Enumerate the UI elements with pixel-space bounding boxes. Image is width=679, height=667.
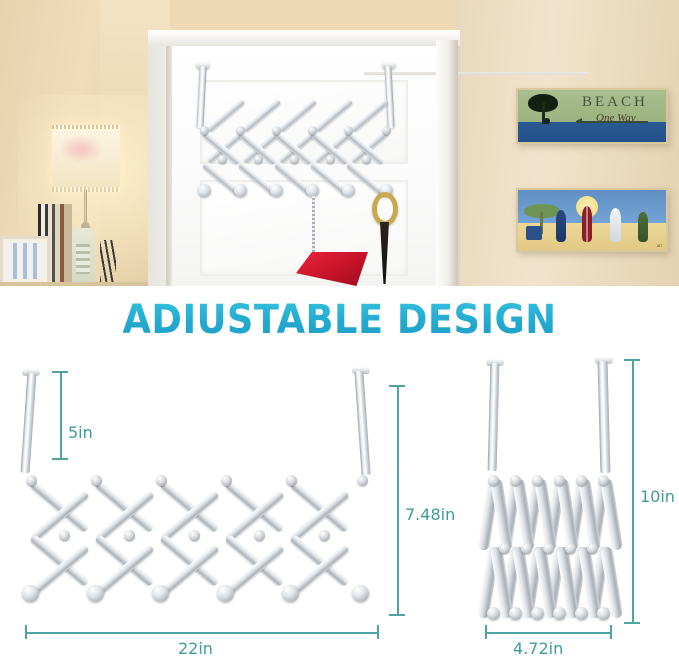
rack-hook-knob — [342, 184, 355, 197]
dimension-tick — [377, 625, 379, 639]
lamp-shade-trim — [52, 125, 120, 129]
dimension-tick — [389, 385, 405, 387]
dimension-label-overall-width: 22in — [178, 639, 213, 658]
cordless-phone — [72, 228, 94, 286]
lattice-rivet — [488, 475, 499, 486]
wall-art-heading: BEACH — [582, 94, 648, 111]
door-rail-top — [364, 72, 588, 75]
door-jamb-right — [436, 40, 458, 286]
lamp-shade-icon — [52, 126, 120, 192]
lattice-bar — [159, 544, 220, 597]
lattice-rivet — [26, 475, 37, 486]
lattice-rivet — [200, 126, 209, 135]
lattice-rivet — [521, 543, 532, 554]
lattice-rivet — [357, 475, 368, 486]
lattice-rivet — [565, 543, 576, 554]
rack-hook-knob — [352, 585, 369, 602]
dimension-tick — [624, 359, 640, 361]
surfboard — [582, 206, 592, 242]
dimension-line-overall-height — [397, 385, 399, 615]
dimension-tick — [25, 625, 27, 639]
lattice-rivet — [286, 475, 297, 486]
page-title: ADIUSTABLE DESIGN — [27, 297, 652, 343]
rack-hook-knob — [234, 184, 247, 197]
picture-frame — [0, 236, 50, 286]
lattice-bar — [29, 534, 90, 587]
lattice-rivet — [499, 543, 510, 554]
lattice-bar — [159, 480, 220, 533]
lattice-rivet — [218, 155, 227, 164]
dimension-tick — [610, 625, 612, 639]
rack-hook-knob — [87, 585, 104, 602]
umbrella-handle-ring-icon — [372, 192, 398, 226]
coconut — [544, 118, 550, 124]
lattice-bar — [94, 480, 155, 533]
lattice-rivet — [382, 126, 391, 135]
dimension-label-overall-width: 4.72in — [513, 639, 563, 658]
door-casing-top — [148, 30, 460, 46]
surfboard — [610, 208, 621, 242]
lattice-rivet — [326, 155, 335, 164]
lattice-bar — [289, 480, 350, 533]
rack-hook-knob — [487, 607, 500, 620]
lattice-bar — [224, 480, 285, 533]
hook-strap-left — [488, 363, 500, 471]
lattice-rivet — [587, 543, 598, 554]
rack-hook-knob — [152, 585, 169, 602]
rack-hook-knob — [270, 184, 283, 197]
dimension-tick — [52, 371, 68, 373]
lattice-bar — [224, 534, 285, 587]
art-signature: art — [657, 244, 662, 249]
rack-hook-knob — [217, 585, 234, 602]
lattice-bar — [224, 544, 285, 597]
lattice-rivet — [510, 475, 521, 486]
dimension-line-overall-height — [632, 359, 634, 623]
beach-chair-icon — [526, 226, 542, 240]
dimension-tick — [389, 614, 405, 616]
rack-hook-knob — [22, 585, 39, 602]
lattice-rivet — [156, 475, 167, 486]
dimension-tick — [624, 622, 640, 624]
lattice-rivet — [598, 475, 609, 486]
rack-hook-knob — [509, 607, 522, 620]
lattice-rivet — [254, 155, 263, 164]
hook-strap-left — [21, 373, 37, 473]
lattice-bar — [29, 544, 90, 597]
dimension-label-overall-height: 7.48in — [405, 505, 455, 524]
dimension-label-overall-height: 10in — [640, 487, 675, 506]
lattice-rivet — [236, 126, 245, 135]
lattice-bar — [29, 480, 90, 533]
hook-strap-right — [354, 371, 370, 475]
lattice-rivet — [290, 155, 299, 164]
lattice-rivet — [91, 475, 102, 486]
dimension-line-overall-width — [485, 632, 611, 634]
left-arrow-icon — [576, 121, 648, 123]
rack-hook-knob — [282, 585, 299, 602]
lattice-rivet — [254, 530, 265, 541]
pen-holder — [100, 240, 116, 286]
lattice-bar — [159, 534, 220, 587]
lattice-rivet — [344, 126, 353, 135]
lattice-rivet — [124, 530, 135, 541]
lattice-bar — [289, 544, 350, 597]
dimension-diagrams: 5in 7.48in 22in — [0, 345, 679, 667]
surfboard — [556, 210, 566, 242]
lattice-rivet — [59, 530, 70, 541]
lattice-rivet — [272, 126, 281, 135]
lifestyle-photo: BEACH One Way art — [0, 0, 679, 286]
desk-surface — [0, 282, 150, 286]
lattice-rivet — [554, 475, 565, 486]
hook-strap-right — [598, 361, 611, 473]
lattice-rivet — [362, 155, 371, 164]
dimension-line-overall-width — [25, 632, 378, 634]
dimension-tick — [52, 458, 68, 460]
wall-art-beach-sign: BEACH One Way — [516, 88, 668, 144]
dimension-label-hook-height: 5in — [68, 423, 93, 442]
lattice-bar — [94, 544, 155, 597]
product-image-root: BEACH One Way art ADIUSTABLE DESIGN — [0, 0, 679, 667]
rack-hook-knob — [597, 607, 610, 620]
dimension-line-hook-height — [60, 371, 62, 459]
rack-hook-knob — [553, 607, 566, 620]
lattice-rivet — [543, 543, 554, 554]
lattice-rivet — [532, 475, 543, 486]
rack-hook-knob — [531, 607, 544, 620]
lattice-rivet — [576, 475, 587, 486]
lattice-bar — [289, 534, 350, 587]
rack-hook-knob — [198, 184, 211, 197]
rack-hook-knob — [575, 607, 588, 620]
dimension-tick — [485, 625, 487, 639]
handbag-chain — [312, 196, 315, 258]
lattice-bar — [94, 534, 155, 587]
surfboard — [638, 212, 648, 242]
lattice-rivet — [221, 475, 232, 486]
wall-art-surfboards: art — [516, 188, 668, 252]
lattice-rivet — [308, 126, 317, 135]
lattice-rivet — [319, 530, 330, 541]
lattice-rivet — [189, 530, 200, 541]
